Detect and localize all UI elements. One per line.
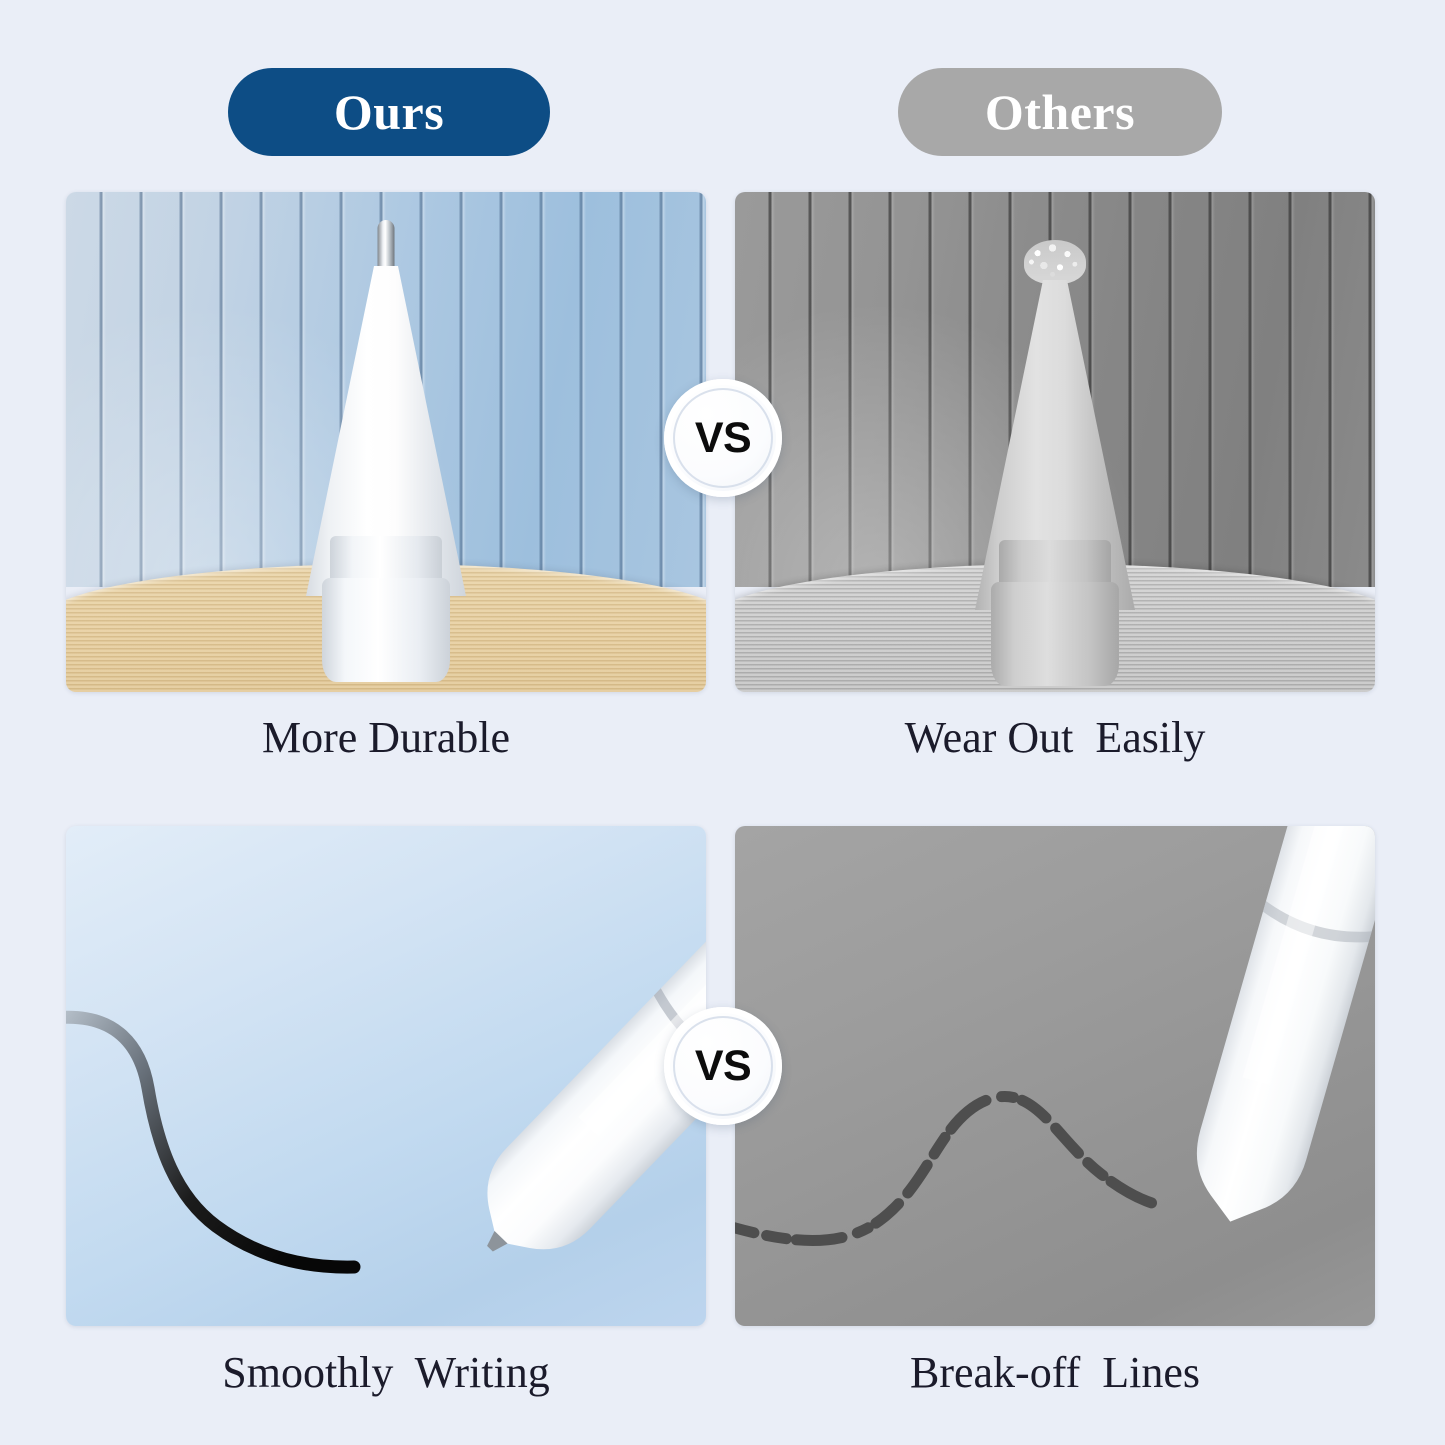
- pen-nib-worn: [955, 192, 1155, 692]
- stylus-pen-others: [1093, 826, 1375, 1320]
- caption-ours-smooth-writing: Smoothly Writing: [66, 1347, 706, 1398]
- panel-ours-durable: [66, 192, 706, 692]
- vs-badge-row1: VS: [664, 379, 782, 497]
- scene-blue-writing-surface: [66, 826, 706, 1326]
- pen-nib-intact: [286, 192, 486, 692]
- caption-others-break-off: Break-off Lines: [735, 1347, 1375, 1398]
- vs-badge-row2: VS: [664, 1007, 782, 1125]
- others-badge: Others: [898, 68, 1222, 156]
- frayed-worn-tip: [1024, 240, 1086, 284]
- panel-others-break-off-lines: [735, 826, 1375, 1326]
- scene-gray-writing-surface: [735, 826, 1375, 1326]
- ours-badge-label: Ours: [334, 83, 444, 141]
- others-badge-label: Others: [985, 83, 1135, 141]
- caption-ours-durable: More Durable: [66, 712, 706, 763]
- panel-ours-smooth-writing: [66, 826, 706, 1326]
- stylus-pen-ours: [358, 826, 706, 1320]
- nib-base-cylinder: [991, 582, 1119, 686]
- caption-others-wear-out: Wear Out Easily: [735, 712, 1375, 763]
- vs-badge-label: VS: [695, 1042, 751, 1091]
- scene-blue-desk: [66, 192, 706, 692]
- nib-base-cylinder: [322, 578, 450, 682]
- panel-others-wear-out: [735, 192, 1375, 692]
- ours-badge: Ours: [228, 68, 550, 156]
- vs-badge-label: VS: [695, 414, 751, 463]
- metal-needle-tip: [378, 220, 395, 270]
- scene-gray-desk: [735, 192, 1375, 692]
